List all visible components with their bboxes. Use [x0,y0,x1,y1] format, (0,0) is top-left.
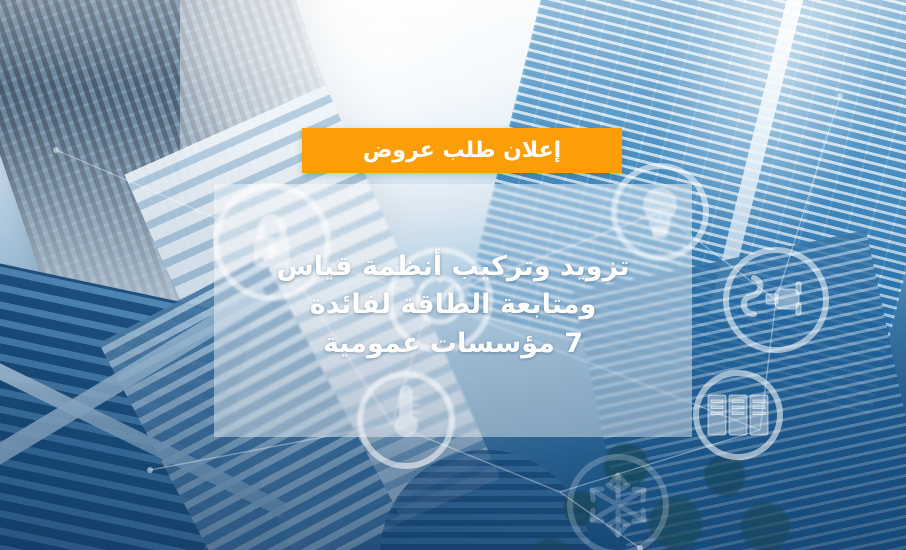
power-plug-icon [726,250,826,350]
headline-line-3: 7 مؤسسات عمومية [214,325,692,363]
ribbon-label: إعلان طلب عروض [363,140,561,162]
headline-block: تزويد وتركيب أنظمة قياس ومتابعة الطاقة ل… [214,248,692,363]
snowflake-icon [570,457,666,550]
announcement-ribbon: إعلان طلب عروض [302,128,622,173]
announcement-banner: إعلان طلب عروض تزويد وتركيب أنظمة قياس و… [0,0,906,550]
headline-line-1: تزويد وتركيب أنظمة قياس [214,248,692,286]
headline-line-2: ومتابعة الطاقة لفائدة [214,286,692,324]
server-rack-icon [696,373,780,457]
